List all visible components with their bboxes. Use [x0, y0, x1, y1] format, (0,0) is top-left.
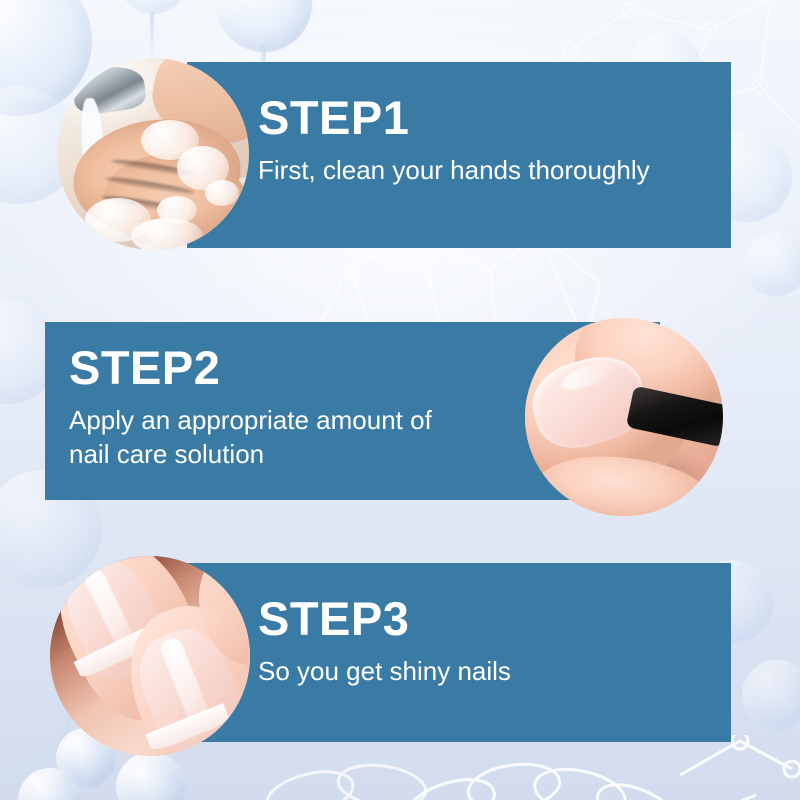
step-2-title: STEP2 [69, 344, 432, 391]
step-1-title: STEP1 [258, 94, 650, 141]
step-3-photo [50, 556, 250, 756]
step-2-text-block: STEP2 Apply an appropriate amount of nai… [69, 344, 432, 470]
step-3-text-block: STEP3 So you get shiny nails [258, 595, 511, 687]
soap-foam [205, 180, 239, 206]
molecule-outline-bottom-left [250, 760, 470, 800]
step-1-photo [57, 58, 249, 250]
step-1-description: First, clean your hands thoroughly [258, 154, 650, 186]
bubble-decoration [744, 232, 800, 296]
step-panel-1: STEP1 First, clean your hands thoroughly [187, 62, 731, 248]
infographic-stage: STEP1 First, clean your hands thoroughly… [0, 0, 800, 800]
step-2-photo [525, 318, 723, 516]
step-2-description-line-2: nail care solution [69, 438, 432, 470]
step-3-title: STEP3 [258, 595, 511, 642]
soap-foam [157, 196, 197, 224]
step-2-description-line-1: Apply an appropriate amount of [69, 404, 432, 436]
step-3-description: So you get shiny nails [258, 655, 511, 687]
step-1-text-block: STEP1 First, clean your hands thoroughly [258, 94, 650, 186]
soap-foam [131, 218, 203, 250]
